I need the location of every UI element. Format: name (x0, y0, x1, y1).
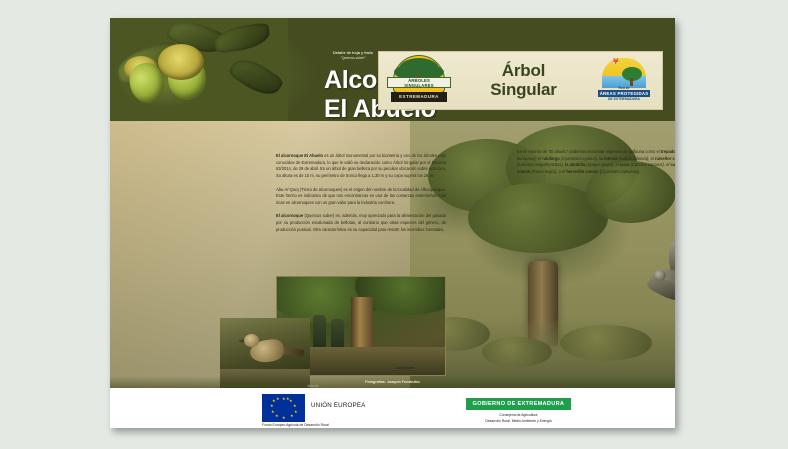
paragraph-2: Abu-Al-Qurq (Tierra de alcornoques) es e… (276, 187, 446, 207)
eu-star: ★ (294, 410, 298, 414)
species-latin-name: (Cyanopica cyanus), (560, 156, 600, 161)
species-common-name: la abubilla (565, 162, 585, 167)
leaf-shape (227, 52, 285, 103)
gobierno-department-text: Consejería de Agricultura Desarrollo Rur… (466, 413, 572, 423)
avifauna-paragraph: En el entorno de "El abuelo" podemos enc… (517, 149, 675, 176)
eu-name-label: UNIÓN EUROPEA (311, 402, 366, 409)
bird-icon: 🦊 (612, 59, 619, 65)
inset-photo-caption: Descorche (396, 366, 414, 370)
logo-bar: ÁRBOLES SINGULARES EXTREMADURA Árbol Sin… (378, 51, 663, 110)
arboles-plate: EXTREMADURA (391, 92, 447, 102)
paragraph-2-lead: Abu-Al-Qurq (276, 187, 299, 192)
paragraph-1: El alcornoque El Abuelo es un árbol monu… (276, 153, 446, 180)
eu-flag-icon: ★ ★ ★ ★ ★ ★ ★ ★ ★ ★ ★ ★ (262, 394, 305, 422)
areas-protegidas-logo: 🦊 Red de ÁREAS PROTEGIDAS DE EXTREMADURA (596, 56, 652, 106)
species-latin-name: (Upupa epops), el (585, 162, 620, 167)
right-text-column: En el entorno de "El abuelo" podemos enc… (517, 149, 675, 183)
scrub-shape (560, 325, 652, 361)
species-latin-name: (Parus major), o el (530, 169, 566, 174)
arboles-ribbon-line-2: SINGULARES (388, 83, 450, 88)
acorn-cupule (158, 44, 204, 80)
species-latin-name: (Cyanistes caeruleus). (599, 169, 641, 174)
arboles-singulares-logo: ÁRBOLES SINGULARES EXTREMADURA (387, 55, 451, 107)
eu-programme-text: Fondo Europeo Agrícola de Desarrollo Rur… (262, 423, 382, 428)
species-common-name: herrerillo común (566, 169, 598, 174)
species-common-name: ruiseñor común (655, 156, 675, 161)
gobierno-extremadura-logo-block: GOBIERNO DE EXTREMADURA Consejería de Ag… (466, 392, 572, 423)
screenshot-canvas: Detalle de hoja y fruto "Quercus suber" … (0, 0, 788, 449)
arboles-ribbon: ÁRBOLES SINGULARES (387, 77, 451, 88)
eu-star: ★ (282, 416, 286, 420)
eu-star: ★ (286, 397, 290, 401)
paragraph-3-lead: El alcornoque (276, 213, 303, 218)
wordmark-line-2: Singular (451, 81, 596, 100)
avifauna-intro: En el entorno de "El abuelo" podemos enc… (517, 149, 661, 154)
worker-figure (331, 319, 344, 349)
poster-body: El alcornoque El Abuelo es un árbol monu… (110, 121, 675, 391)
eu-star: ★ (270, 404, 274, 408)
species-common-name: rabilargo (542, 156, 560, 161)
species-latin-name: (Luscinia megarhynchos), (517, 162, 565, 167)
acorn-detail-photo (110, 18, 288, 121)
bird-head-shape (653, 270, 666, 281)
beak-shape (238, 339, 244, 343)
left-text-column: El alcornoque El Abuelo es un árbol monu… (276, 153, 446, 240)
gov-sub-line-2: Desarrollo Rural, Medio Ambiente y Energ… (466, 419, 572, 424)
species-latin-name: (Cuculus canorus), el (629, 162, 670, 167)
paragraph-3: El alcornoque (Quercus suber) es, además… (276, 213, 446, 233)
poster-footer: ★ ★ ★ ★ ★ ★ ★ ★ ★ ★ ★ ★ UNIÓN EUROPEA Fo… (110, 388, 675, 428)
gobierno-band-label: GOBIERNO DE EXTREMADURA (466, 398, 572, 410)
poster-header-band: Detalle de hoja y fruto "Quercus suber" … (110, 18, 675, 121)
eu-star: ★ (293, 404, 297, 408)
trunk-shape (630, 78, 633, 86)
species-common-name: cuco (620, 162, 630, 167)
paragraph-1-lead: El alcornoque El Abuelo (276, 153, 323, 158)
areas-line-2: ÁREAS PROTEGIDAS (598, 90, 650, 97)
areas-line-3: DE EXTREMADURA (596, 97, 652, 101)
interpretive-sign-poster: Detalle de hoja y fruto "Quercus suber" … (110, 18, 675, 428)
photo-credit: Fotografías: Joaquín Fernández (110, 376, 675, 388)
species-latin-name: (Lullula arborea), el (617, 156, 655, 161)
paragraph-2-body: (Tierra de alcornoques) es el origen del… (276, 187, 446, 205)
worker-figure (313, 315, 326, 349)
eu-star: ★ (290, 414, 294, 418)
cuckoo-bird-illustration (635, 239, 675, 315)
eu-star: ★ (276, 397, 280, 401)
leaf-shape (213, 22, 272, 54)
wordmark-line-1: Árbol (451, 62, 596, 81)
eu-logo-block: ★ ★ ★ ★ ★ ★ ★ ★ ★ ★ ★ ★ UNIÓN EUROPEA Fo… (262, 394, 366, 422)
species-common-name: la totovía (599, 156, 617, 161)
scrub-shape (482, 337, 552, 367)
bird-head-shape (244, 334, 259, 347)
species-common-name: trepador azul (661, 149, 675, 154)
eu-star: ★ (275, 414, 279, 418)
eu-star: ★ (271, 410, 275, 414)
arbol-singular-wordmark: Árbol Singular (451, 62, 596, 99)
